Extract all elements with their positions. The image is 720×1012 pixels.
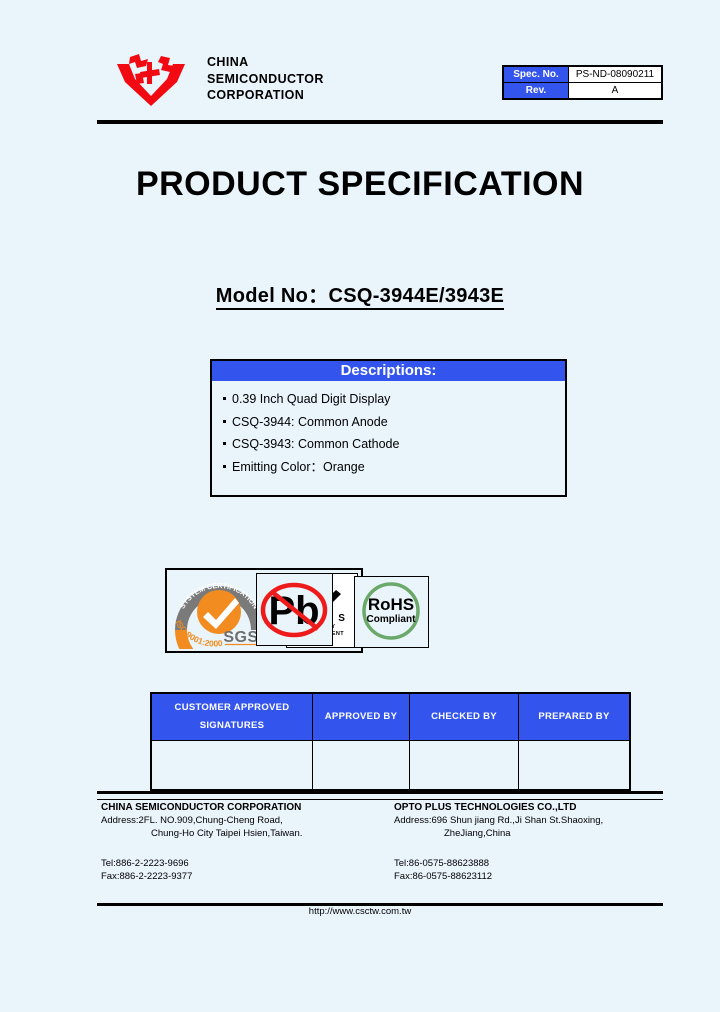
signature-cell-customer[interactable] (151, 741, 313, 791)
spec-no-row: Spec. No. PS-ND-08090211 (503, 66, 662, 83)
footer-contact-china-semiconductor: CHINA SEMICONDUCTOR CORPORATION Address:… (97, 800, 387, 883)
svg-text:RoHS: RoHS (368, 595, 414, 614)
description-item-text: 0.39 Inch Quad Digit Display (232, 392, 390, 406)
column-header-prepared-by: PREPARED BY (519, 693, 631, 741)
bullet-icon (223, 442, 226, 445)
revision-value: A (569, 83, 663, 100)
company-name-line3: CORPORATION (207, 87, 324, 104)
column-header-checked-by: CHECKED BY (410, 693, 519, 741)
spec-info-table: Spec. No. PS-ND-08090211 Rev. A (502, 65, 663, 100)
footer-address-line2: ZheJiang,China (390, 827, 680, 840)
footer-contact-opto-plus: OPTO PLUS TECHNOLOGIES CO.,LTD Address:6… (390, 800, 680, 883)
table-row (151, 741, 630, 791)
table-header-row: CUSTOMER APPROVED SIGNATURES APPROVED BY… (151, 693, 630, 741)
signature-cell-prepared-by[interactable] (519, 741, 631, 791)
revision-label: Rev. (503, 83, 569, 100)
footer-telephone: Tel:86-0575-88623888 (390, 857, 680, 870)
company-name-line1: CHINA (207, 54, 324, 71)
company-name-line2: SEMICONDUCTOR (207, 71, 324, 88)
footer-fax: Fax:886-2-2223-9377 (97, 870, 387, 883)
model-number-text: Model No：CSQ-3944E/3943E (216, 285, 504, 310)
spec-no-value: PS-ND-08090211 (569, 66, 663, 83)
footer-address-line1: Address:696 Shun jiang Rd.,Ji Shan St.Sh… (390, 814, 680, 827)
description-item-text: CSQ-3943: Common Cathode (232, 437, 399, 451)
datasheet-cover-page: CHINA SEMICONDUCTOR CORPORATION Spec. No… (0, 0, 720, 1012)
page-header: CHINA SEMICONDUCTOR CORPORATION Spec. No… (97, 46, 663, 114)
bullet-icon (223, 397, 226, 400)
footer-company-name: OPTO PLUS TECHNOLOGIES CO.,LTD (390, 800, 680, 814)
company-name: CHINA SEMICONDUCTOR CORPORATION (207, 54, 324, 104)
footer-telephone: Tel:886-2-2223-9696 (97, 857, 387, 870)
footer-address-line2: Chung-Ho City Taipei Hsien,Taiwan. (97, 827, 387, 840)
svg-text:SGS: SGS (223, 629, 258, 646)
bullet-icon (223, 465, 226, 468)
header-divider (97, 120, 663, 124)
approval-signature-table: CUSTOMER APPROVED SIGNATURES APPROVED BY… (150, 692, 631, 791)
column-header-line1: CUSTOMER APPROVED (152, 699, 312, 717)
model-number: Model No：CSQ-3944E/3943E (0, 279, 720, 308)
column-header-line1: CHECKED BY (410, 708, 518, 726)
signature-cell-checked-by[interactable] (410, 741, 519, 791)
website-url[interactable]: http://www.csctw.com.tw (0, 906, 720, 917)
description-item: CSQ-3943: Common Cathode (223, 433, 565, 456)
descriptions-box: Descriptions: 0.39 Inch Quad Digit Displ… (210, 359, 567, 497)
descriptions-heading: Descriptions: (212, 361, 565, 381)
description-item: Emitting Color：Orange (223, 456, 565, 479)
certification-logos: SYSTEM CERTIFICATION ISO 9001:2000 SGS (0, 568, 720, 660)
footer-fax: Fax:86-0575-88623112 (390, 870, 680, 883)
footer-address-line1: Address:2FL. NO.909,Chung-Cheng Road, (97, 814, 387, 827)
bullet-icon (223, 420, 226, 423)
column-header-line2: SIGNATURES (152, 717, 312, 735)
footer-divider-thick (97, 791, 663, 794)
china-semiconductor-logo-icon (115, 52, 187, 108)
revision-row: Rev. A (503, 83, 662, 100)
column-header-line1: APPROVED BY (313, 708, 409, 726)
signature-cell-approved-by[interactable] (313, 741, 410, 791)
description-item: CSQ-3944: Common Anode (223, 411, 565, 434)
lead-free-logo-icon: Pb (256, 573, 333, 646)
description-item-text: CSQ-3944: Common Anode (232, 415, 388, 429)
footer-spacer (390, 840, 680, 857)
column-header-line1: PREPARED BY (519, 708, 629, 726)
footer-company-name: CHINA SEMICONDUCTOR CORPORATION (97, 800, 387, 814)
description-item-text: Emitting Color：Orange (232, 460, 365, 474)
spec-no-label: Spec. No. (503, 66, 569, 83)
column-header-customer-approved-signatures: CUSTOMER APPROVED SIGNATURES (151, 693, 313, 741)
rohs-logo-icon: RoHS Compliant (354, 576, 429, 648)
page-title: PRODUCT SPECIFICATION (0, 165, 720, 204)
svg-text:Compliant: Compliant (367, 614, 417, 625)
descriptions-list: 0.39 Inch Quad Digit Display CSQ-3944: C… (212, 381, 565, 478)
column-header-approved-by: APPROVED BY (313, 693, 410, 741)
footer-spacer (97, 840, 387, 857)
description-item: 0.39 Inch Quad Digit Display (223, 388, 565, 411)
